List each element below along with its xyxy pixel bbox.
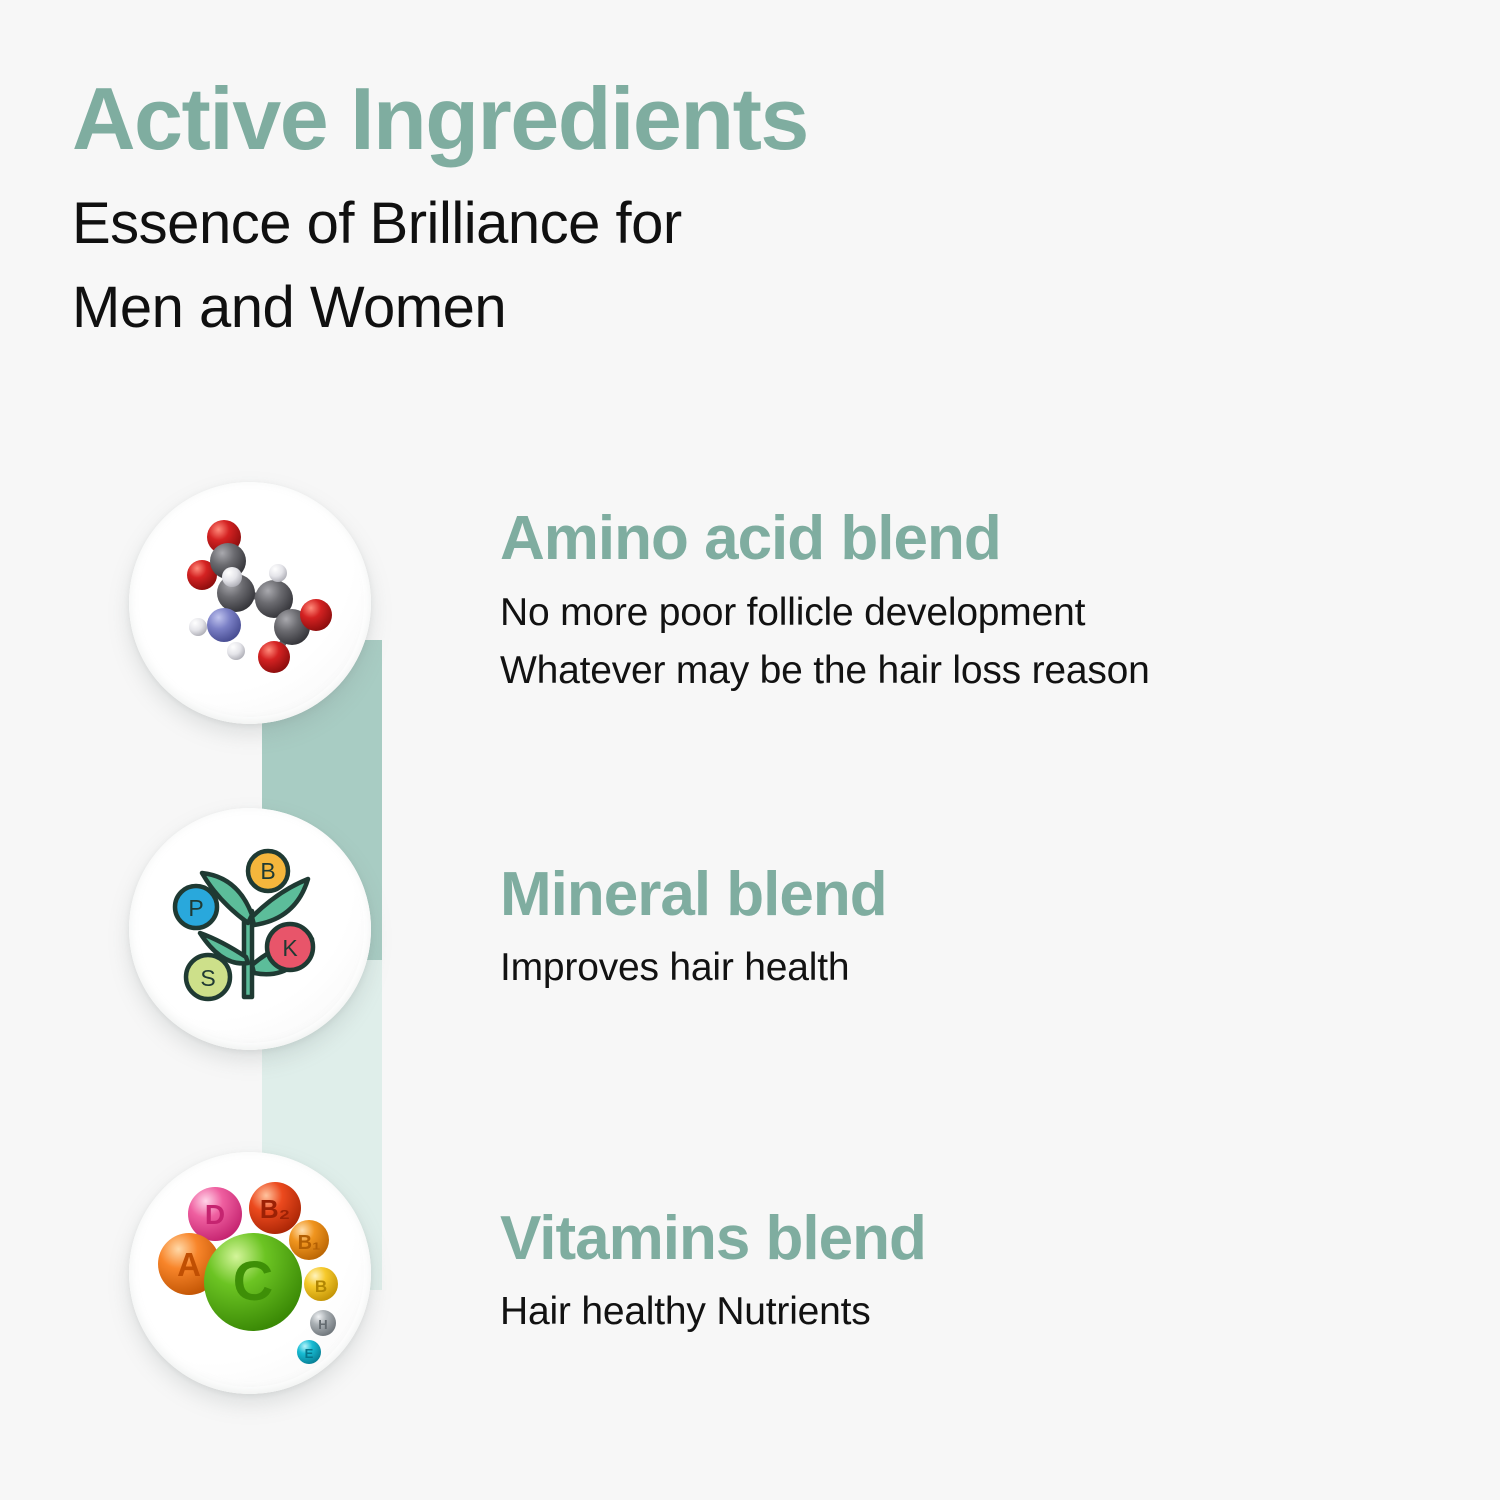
- badge-wrap-mineral: B P K S: [0, 808, 500, 1050]
- badge-vitamins[interactable]: D B₂ A C B₁ B H E: [129, 1152, 371, 1394]
- vitamin-label-b2: B₂: [260, 1194, 290, 1224]
- vitamin-label-b1: B₁: [298, 1232, 321, 1254]
- vitamin-spheres-icon: D B₂ A C B₁ B H E: [157, 1180, 343, 1366]
- text-col-mineral: Mineral blend Improves hair health: [500, 861, 1500, 998]
- page-subtitle: Essence of Brilliance for Men and Women: [72, 182, 1072, 350]
- ingredient-row-vitamins: D B₂ A C B₁ B H E Vitamins blend Hair he…: [0, 1152, 1500, 1394]
- text-col-vitamins: Vitamins blend Hair healthy Nutrients: [500, 1205, 1500, 1342]
- header: Active Ingredients Essence of Brilliance…: [72, 74, 1072, 350]
- vitamin-label-e: E: [305, 1346, 314, 1361]
- mineral-label-s: S: [200, 965, 215, 991]
- desc-line-1: Hair healthy Nutrients: [500, 1283, 1430, 1342]
- ingredient-row-mineral: B P K S Mineral blend Improves hair heal…: [0, 808, 1500, 1050]
- vitamin-label-a: A: [177, 1246, 201, 1283]
- plant-minerals-icon: B P K S: [166, 845, 334, 1013]
- desc-line-1: No more poor follicle development: [500, 584, 1430, 643]
- infographic-poster: Active Ingredients Essence of Brilliance…: [0, 0, 1500, 1500]
- vitamin-label-d: D: [205, 1199, 225, 1230]
- mineral-label-b: B: [260, 858, 275, 884]
- badge-mineral[interactable]: B P K S: [129, 808, 371, 1050]
- subtitle-line-1: Essence of Brilliance for: [72, 182, 1072, 266]
- ingredient-desc-mineral: Improves hair health: [500, 939, 1430, 998]
- badge-amino-acid[interactable]: [129, 482, 371, 724]
- ingredient-title-amino-acid: Amino acid blend: [500, 505, 1430, 573]
- desc-line-1: Improves hair health: [500, 939, 1430, 998]
- page-title: Active Ingredients: [72, 74, 1072, 164]
- subtitle-line-2: Men and Women: [72, 266, 1072, 350]
- mineral-label-k: K: [282, 935, 298, 961]
- badge-wrap-amino-acid: [0, 482, 500, 724]
- mineral-label-p: P: [188, 895, 203, 921]
- badge-wrap-vitamins: D B₂ A C B₁ B H E: [0, 1152, 500, 1394]
- text-col-amino-acid: Amino acid blend No more poor follicle d…: [500, 505, 1500, 700]
- ingredient-row-amino-acid: Amino acid blend No more poor follicle d…: [0, 482, 1500, 724]
- vitamin-label-b: B: [315, 1277, 327, 1296]
- molecule-icon: [162, 515, 338, 691]
- ingredient-desc-vitamins: Hair healthy Nutrients: [500, 1283, 1430, 1342]
- vitamin-label-c: C: [233, 1249, 273, 1312]
- vitamin-label-h: H: [318, 1317, 327, 1332]
- ingredient-desc-amino-acid: No more poor follicle development Whatev…: [500, 584, 1430, 701]
- ingredient-title-mineral: Mineral blend: [500, 861, 1430, 929]
- ingredient-title-vitamins: Vitamins blend: [500, 1205, 1430, 1273]
- desc-line-2: Whatever may be the hair loss reason: [500, 642, 1430, 701]
